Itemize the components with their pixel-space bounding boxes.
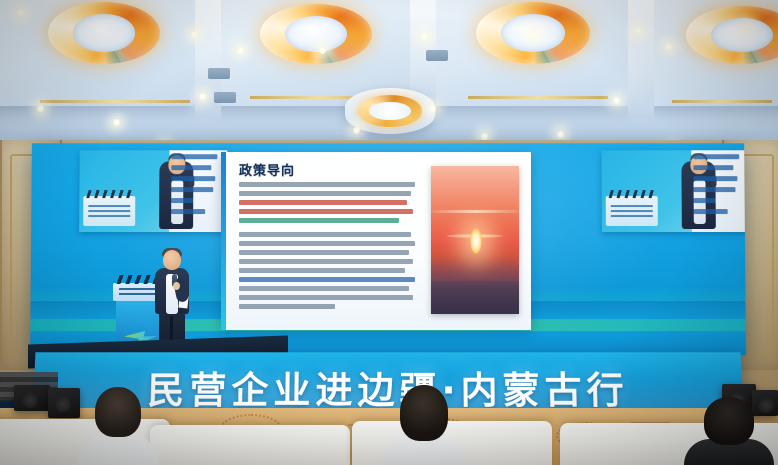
presenter-with-microphone: [151, 250, 193, 348]
ceiling: [0, 0, 778, 160]
pa-speaker: [14, 385, 50, 411]
audience-member: [684, 399, 774, 465]
ceiling-beam: [628, 0, 654, 118]
pip-left-speaker-feed: [79, 150, 227, 232]
gold-trim: [672, 100, 772, 103]
ceiling-ring-light: [48, 2, 160, 64]
pip-right-speaker-feed: [602, 150, 746, 232]
audience-chair: [150, 425, 350, 465]
ceiling-ring-light: [260, 4, 372, 64]
conference-hall-photo: 政策导向: [0, 0, 778, 465]
pa-speaker: [48, 388, 80, 418]
slide-body-text: [239, 182, 419, 313]
audience-member: [78, 393, 158, 465]
gold-trim: [40, 100, 190, 103]
sunset-over-water-photo: [431, 166, 519, 314]
presentation-slide: 政策导向: [221, 152, 531, 330]
gold-trim: [468, 96, 608, 99]
slide-title: 政策导向: [239, 160, 295, 179]
audience-member: [382, 385, 466, 465]
slide-accent-bar: [221, 152, 226, 330]
